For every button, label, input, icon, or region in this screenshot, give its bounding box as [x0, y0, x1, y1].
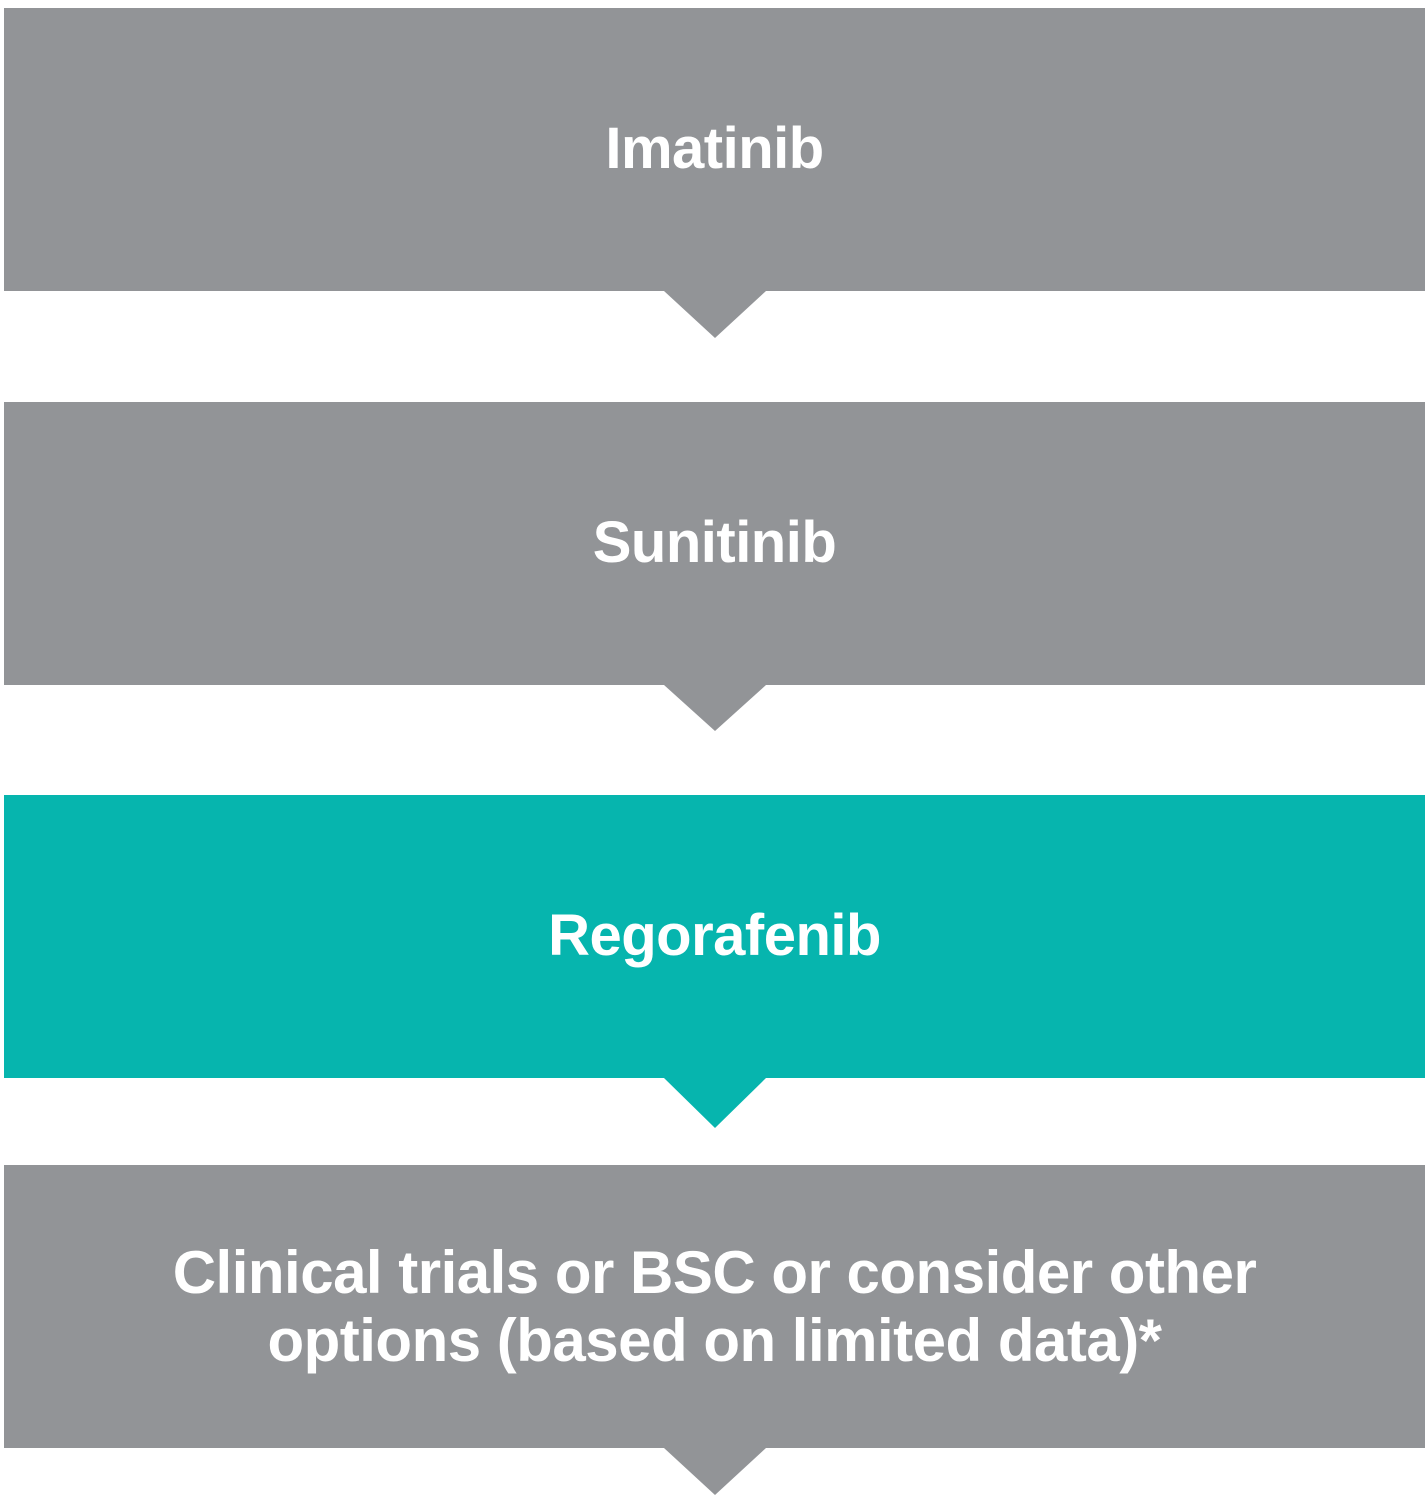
- flow-step-sunitinib[interactable]: Sunitinib: [4, 402, 1425, 685]
- step-label-clinical-trials: Clinical trials or BSC or consider other…: [173, 1239, 1257, 1373]
- down-arrow-icon: [664, 291, 766, 338]
- flow-step-imatinib[interactable]: Imatinib: [4, 8, 1425, 291]
- down-arrow-icon: [664, 685, 766, 731]
- down-arrow-icon: [664, 1448, 766, 1495]
- flow-step-regorafenib[interactable]: Regorafenib: [4, 795, 1425, 1078]
- step-box: Clinical trials or BSC or consider other…: [4, 1165, 1425, 1448]
- flowchart-canvas: Imatinib Sunitinib Regorafenib Clinical …: [0, 0, 1425, 1501]
- step-label-regorafenib: Regorafenib: [548, 904, 881, 969]
- down-arrow-icon: [664, 1078, 766, 1128]
- step-label-sunitinib: Sunitinib: [593, 511, 837, 576]
- step-box-highlighted: Regorafenib: [4, 795, 1425, 1078]
- flow-step-clinical-trials[interactable]: Clinical trials or BSC or consider other…: [4, 1165, 1425, 1448]
- step-label-imatinib: Imatinib: [605, 117, 823, 182]
- step-box: Imatinib: [4, 8, 1425, 291]
- step-box: Sunitinib: [4, 402, 1425, 685]
